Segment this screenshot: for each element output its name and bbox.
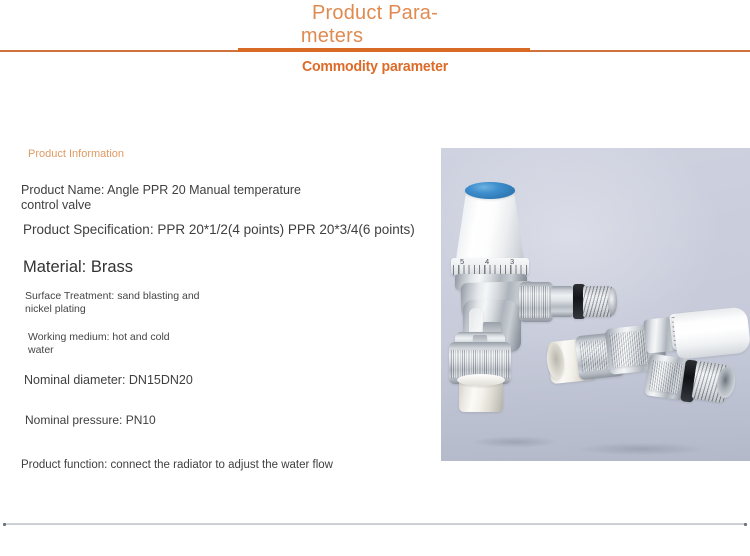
- valve-left-knob-blue-cap: [465, 182, 515, 199]
- valve-left-dial-number-5: 5: [460, 257, 464, 266]
- spec-nominal-diameter: Nominal diameter: DN15DN20: [24, 373, 193, 388]
- divider-cap-right: [744, 523, 747, 526]
- valve-right-body-knurling: [609, 330, 648, 368]
- product-information-section: Product Information Product Name: Angle …: [0, 140, 440, 480]
- spec-product-name: Product Name: Angle PPR 20 Manual temper…: [21, 183, 301, 213]
- page-header: Product Para- meters Commodity parameter: [0, 0, 750, 90]
- spec-product-function: Product function: connect the radiator t…: [21, 458, 333, 472]
- spec-product-specification: Product Specification: PPR 20*1/2(4 poin…: [23, 222, 415, 238]
- section-heading: Product Information: [28, 148, 124, 160]
- valve-left-dial-number-4: 4: [485, 257, 489, 266]
- spec-working-medium: Working medium: hot and cold water: [28, 331, 170, 357]
- product-photo: 5 4 3: [441, 148, 750, 461]
- divider-cap-left: [3, 523, 6, 526]
- valve-left-ppr-rim: [457, 374, 505, 386]
- valve-left-dial-number-3: 3: [510, 257, 514, 266]
- spec-nominal-pressure: Nominal pressure: PN10: [25, 413, 156, 428]
- valve-left-arm-knurling: [521, 286, 551, 318]
- page-title: Product Para- meters: [0, 2, 750, 48]
- valve-right-knob: [673, 306, 750, 359]
- spec-material: Material: Brass: [23, 258, 133, 277]
- header-rule-thick: [238, 48, 530, 52]
- page-subtitle: Commodity parameter: [23, 57, 728, 76]
- bottom-divider: [4, 523, 746, 525]
- page-title-line-1: Product Para-: [0, 2, 750, 25]
- page-title-line-2: meters: [0, 25, 750, 48]
- valve-right: [559, 310, 750, 450]
- spec-surface-treatment: Surface Treatment: sand blasting and nic…: [25, 290, 200, 316]
- valve-right-outlet-knurling: [649, 360, 683, 394]
